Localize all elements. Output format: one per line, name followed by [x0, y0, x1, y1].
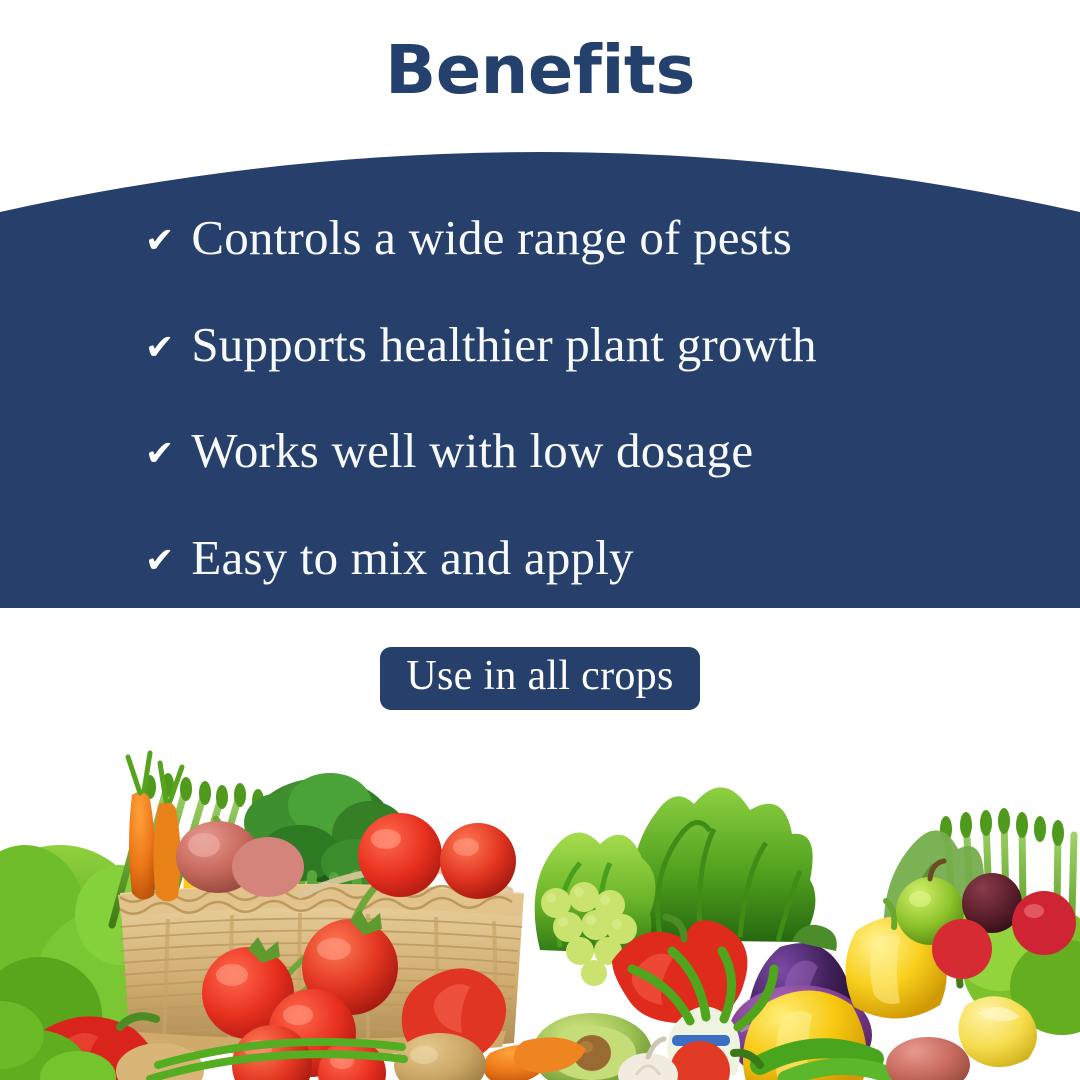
benefit-label: Easy to mix and apply	[191, 533, 633, 582]
benefits-banner: ✔ Controls a wide range of pests ✔ Suppo…	[0, 120, 1080, 610]
list-item: ✔ Controls a wide range of pests	[145, 213, 792, 262]
list-item: ✔ Supports healthier plant growth	[145, 320, 817, 369]
check-icon: ✔	[145, 544, 174, 579]
benefit-label: Controls a wide range of pests	[191, 213, 792, 262]
check-icon: ✔	[145, 437, 174, 472]
check-icon: ✔	[145, 224, 174, 259]
benefits-infographic: Benefits ✔ Controls a wide range of pest…	[0, 0, 1080, 1080]
badge-row: Use in all crops	[0, 608, 1080, 745]
produce-illustration	[0, 735, 1080, 1080]
title-area: Benefits	[0, 0, 1080, 140]
benefits-list: ✔ Controls a wide range of pests ✔ Suppo…	[0, 120, 1080, 610]
list-item: ✔ Easy to mix and apply	[145, 533, 634, 582]
benefit-label: Supports healthier plant growth	[191, 320, 816, 369]
check-icon: ✔	[145, 331, 174, 366]
produce-photo	[0, 735, 1080, 1080]
benefit-label: Works well with low dosage	[191, 426, 753, 475]
list-item: ✔ Works well with low dosage	[145, 426, 753, 475]
status-badge: Use in all crops	[380, 647, 699, 710]
page-title: Benefits	[385, 37, 695, 104]
